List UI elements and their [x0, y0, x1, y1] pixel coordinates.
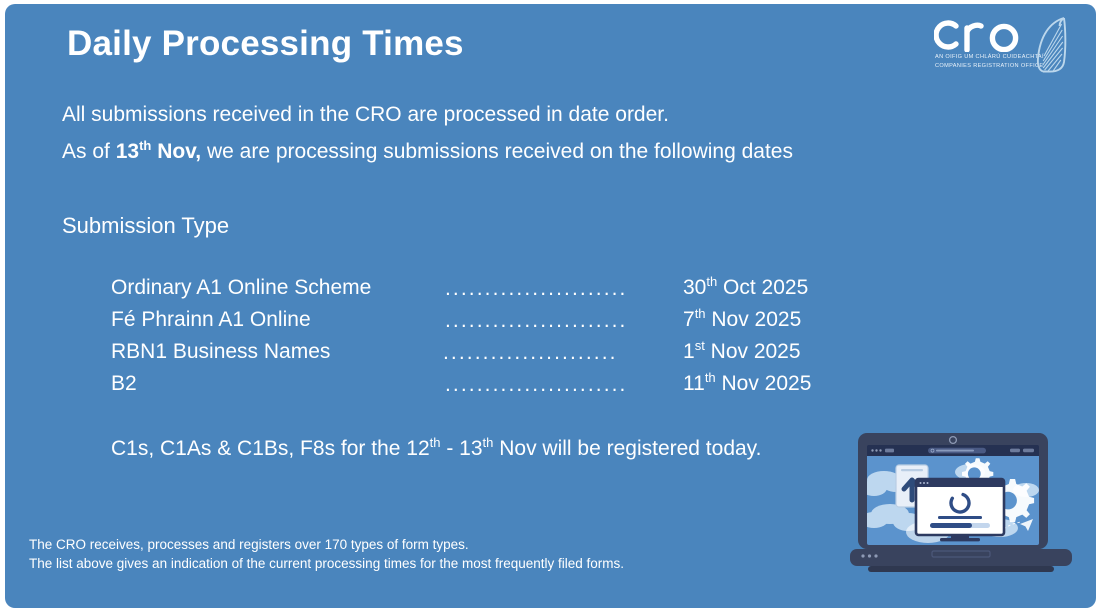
maintenance-dialog [916, 479, 1004, 535]
logo-subtitle-english: COMPANIES REGISTRATION OFFICE [935, 63, 1043, 69]
footer-line-2: The list above gives an indication of th… [29, 554, 624, 573]
leader-dots: ................................ [445, 372, 629, 398]
poster-card: Daily Processing Times AN OIFIG UM CHLÁR… [5, 4, 1096, 608]
page-title: Daily Processing Times [67, 24, 464, 64]
cro-wordmark-icon [934, 14, 1030, 52]
leader-dots: ............................ [443, 340, 615, 366]
processing-date: 7th Nov 2025 [683, 308, 801, 332]
submission-type-header: Submission Type [62, 213, 229, 239]
intro-line-2: As of 13th Nov, we are processing submis… [62, 140, 793, 164]
intro-date-month: Nov, [151, 140, 201, 163]
table-row: Fé Phrainn A1 Online ...................… [111, 308, 871, 340]
laptop-foot [868, 566, 1054, 572]
footer-note: The CRO receives, processes and register… [29, 535, 624, 573]
table-row: Ordinary A1 Online Scheme ..............… [111, 276, 871, 308]
processing-date: 1st Nov 2025 [683, 340, 801, 364]
footer-line-1: The CRO receives, processes and register… [29, 535, 624, 554]
processing-date: 30th Oct 2025 [683, 276, 808, 300]
submission-type-label: Ordinary A1 Online Scheme [111, 276, 371, 300]
progress-bar-fill [930, 523, 972, 528]
submission-type-label: Fé Phrainn A1 Online [111, 308, 311, 332]
same-day-registration-note: C1s, C1As & C1Bs, F8s for the 12th - 13t… [111, 437, 761, 461]
intro-prefix: As of [62, 140, 116, 163]
table-row: B2 ................................ 11th… [111, 372, 871, 404]
dialog-title-text [938, 516, 982, 519]
laptop-screen [860, 445, 1039, 545]
laptop-maintenance-illustration [850, 428, 1072, 578]
leader-dots: ............................... [445, 308, 627, 334]
intro-line-1: All submissions received in the CRO are … [62, 103, 669, 127]
cro-logo: AN OIFIG UM CHLÁRÚ CUIDEACHTAÍ COMPANIES… [934, 10, 1074, 78]
submission-type-label: B2 [111, 372, 137, 396]
table-row: RBN1 Business Names ....................… [111, 340, 871, 372]
logo-subtitle-irish: AN OIFIG UM CHLÁRÚ CUIDEACHTAÍ [935, 54, 1044, 60]
processing-times-table: Ordinary A1 Online Scheme ..............… [111, 276, 871, 404]
intro-date-emphasis: 13th Nov, [116, 140, 201, 163]
leader-dots: ................................ [445, 276, 627, 302]
intro-date-ordinal: th [139, 138, 151, 153]
submission-type-label: RBN1 Business Names [111, 340, 330, 364]
intro-rest: we are processing submissions received o… [201, 140, 793, 163]
harp-icon [1030, 12, 1074, 76]
processing-date: 11th Nov 2025 [683, 372, 811, 396]
intro-date-number: 13 [116, 140, 139, 163]
